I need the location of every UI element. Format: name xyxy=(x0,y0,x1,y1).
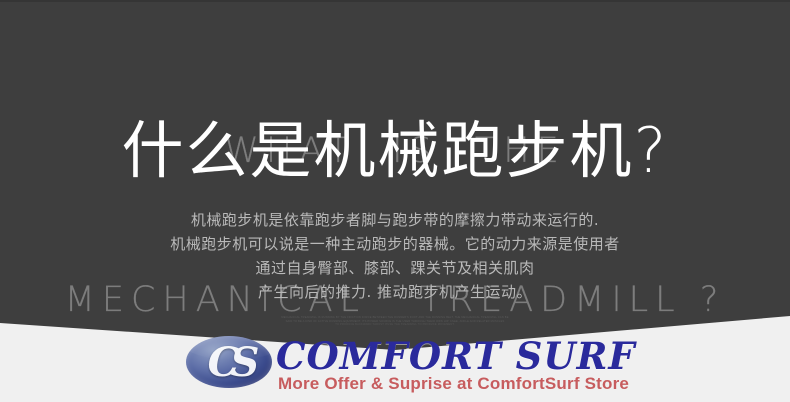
brand-logo[interactable]: CS COMFORT SURF More Offer & Suprise at … xyxy=(0,332,790,402)
body-line-4: 产生向后的推力. 推动跑步机产生运动。 xyxy=(0,280,790,304)
body-paragraph: 机械跑步机是依靠跑步者脚与跑步带的摩擦力带动来运行的. 机械跑步机可以说是一种主… xyxy=(0,208,790,304)
fineprint-block: MECHANICAL TREADMILL IS RUNNING BY THE F… xyxy=(0,316,790,327)
top-divider xyxy=(0,0,790,2)
brand-wordmark: COMFORT SURF xyxy=(276,334,636,378)
body-line-3: 通过自身臀部、膝部、踝关节及相关肌肉 xyxy=(0,256,790,280)
promo-banner: WHAT IS THE MECHANICAL TREADMILL ? 什么是机械… xyxy=(0,0,790,402)
cs-monogram-icon: CS xyxy=(186,336,272,388)
body-line-1: 机械跑步机是依靠跑步者脚与跑步带的摩擦力带动来运行的. xyxy=(0,208,790,232)
body-line-2: 机械跑步机可以说是一种主动跑步的器械。它的动力来源是使用者 xyxy=(0,232,790,256)
brand-tagline: More Offer & Suprise at ComfortSurf Stor… xyxy=(278,374,629,394)
cs-monogram-text: CS xyxy=(186,336,272,388)
page-title: 什么是机械跑步机? xyxy=(0,118,790,183)
